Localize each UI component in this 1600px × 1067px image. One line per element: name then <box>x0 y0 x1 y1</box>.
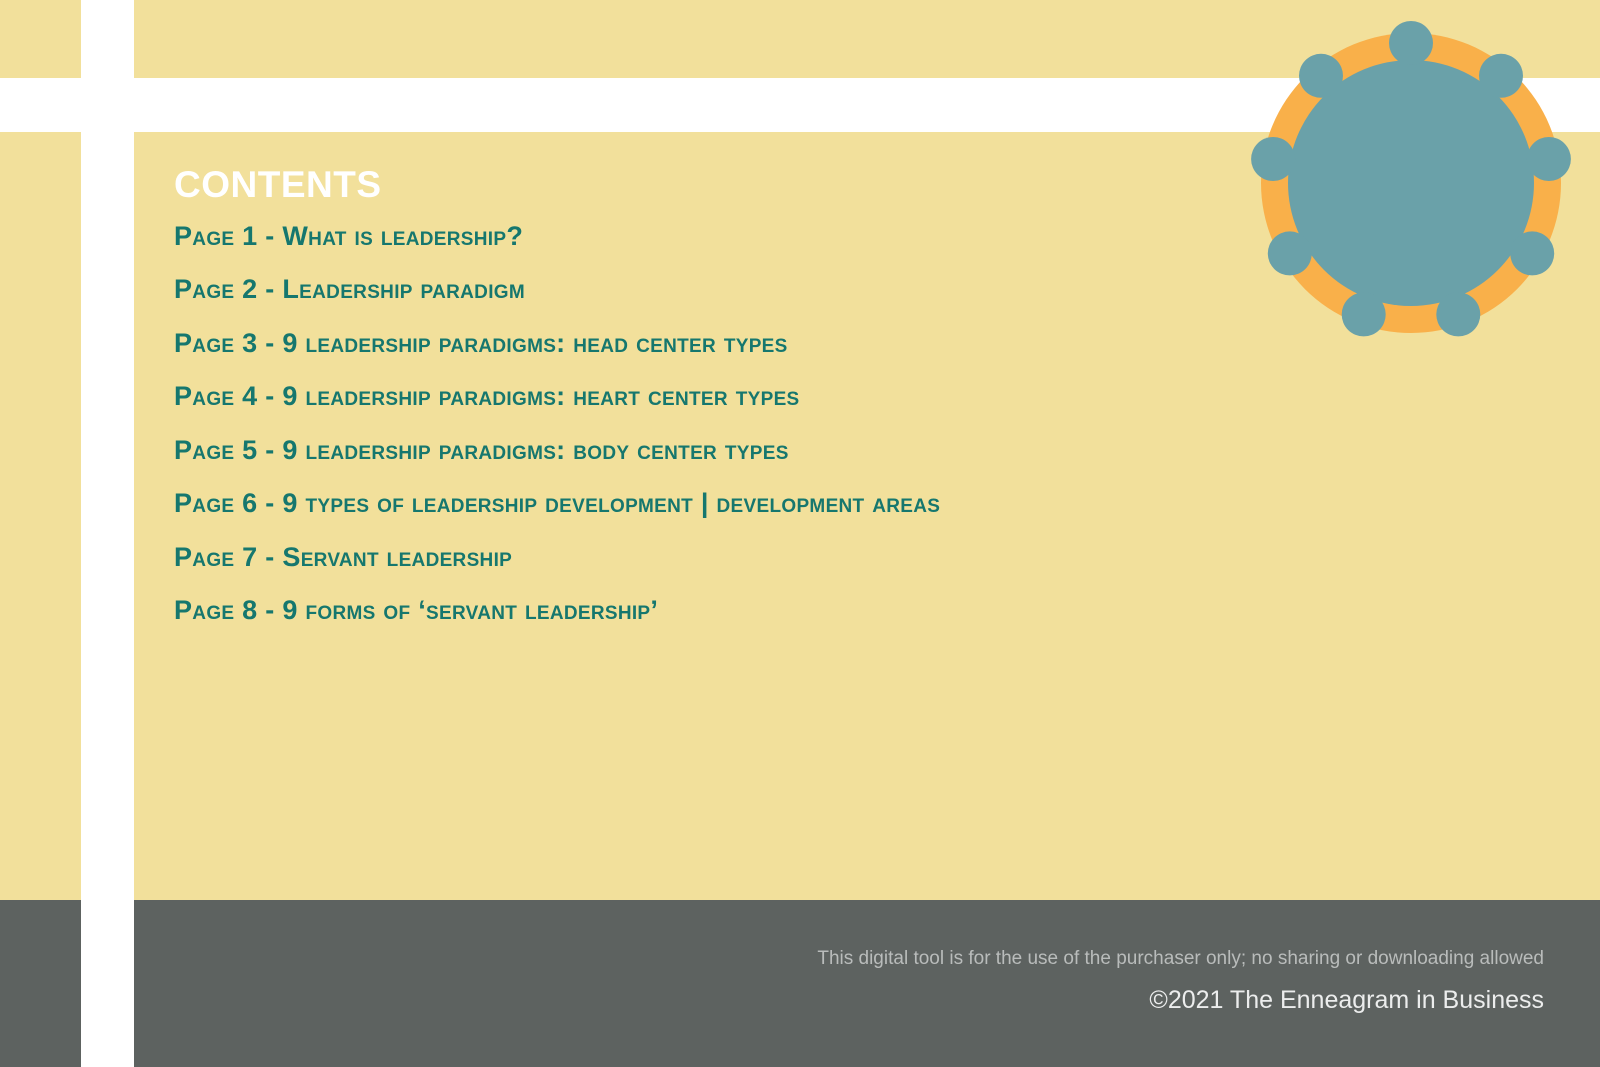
footer-usage-notice: This digital tool is for the use of the … <box>817 948 1544 970</box>
toc-item-page-5[interactable]: Page 5 - 9 leadership paradigms: body ce… <box>174 437 1354 464</box>
toc-item-page-7[interactable]: Page 7 - Servant leadership <box>174 544 1354 571</box>
toc-item-page-1[interactable]: Page 1 - What is leadership? <box>174 223 1354 250</box>
table-of-contents-list: Page 1 - What is leadership? Page 2 - Le… <box>174 223 1354 625</box>
toc-item-page-2[interactable]: Page 2 - Leadership paradigm <box>174 276 1354 303</box>
toc-item-page-4[interactable]: Page 4 - 9 leadership paradigms: heart c… <box>174 383 1354 410</box>
footer-copyright: ©2021 The Enneagram in Business <box>1149 986 1544 1015</box>
contents-section: CONTENTS Page 1 - What is leadership? Pa… <box>174 166 1354 651</box>
toc-item-page-6[interactable]: Page 6 - 9 types of leadership developme… <box>174 490 1354 517</box>
toc-item-page-8[interactable]: Page 8 - 9 forms of ‘servant leadership’ <box>174 597 1354 624</box>
page-title: CONTENTS <box>174 166 1354 205</box>
footer-bar <box>0 900 1600 1067</box>
toc-item-page-3[interactable]: Page 3 - 9 leadership paradigms: head ce… <box>174 330 1354 357</box>
background-panel-top-left <box>0 0 81 78</box>
slide-canvas: CONTENTS Page 1 - What is leadership? Pa… <box>0 0 1600 1067</box>
divider-band-vertical <box>81 0 134 1067</box>
background-panel-left-column <box>0 132 81 900</box>
